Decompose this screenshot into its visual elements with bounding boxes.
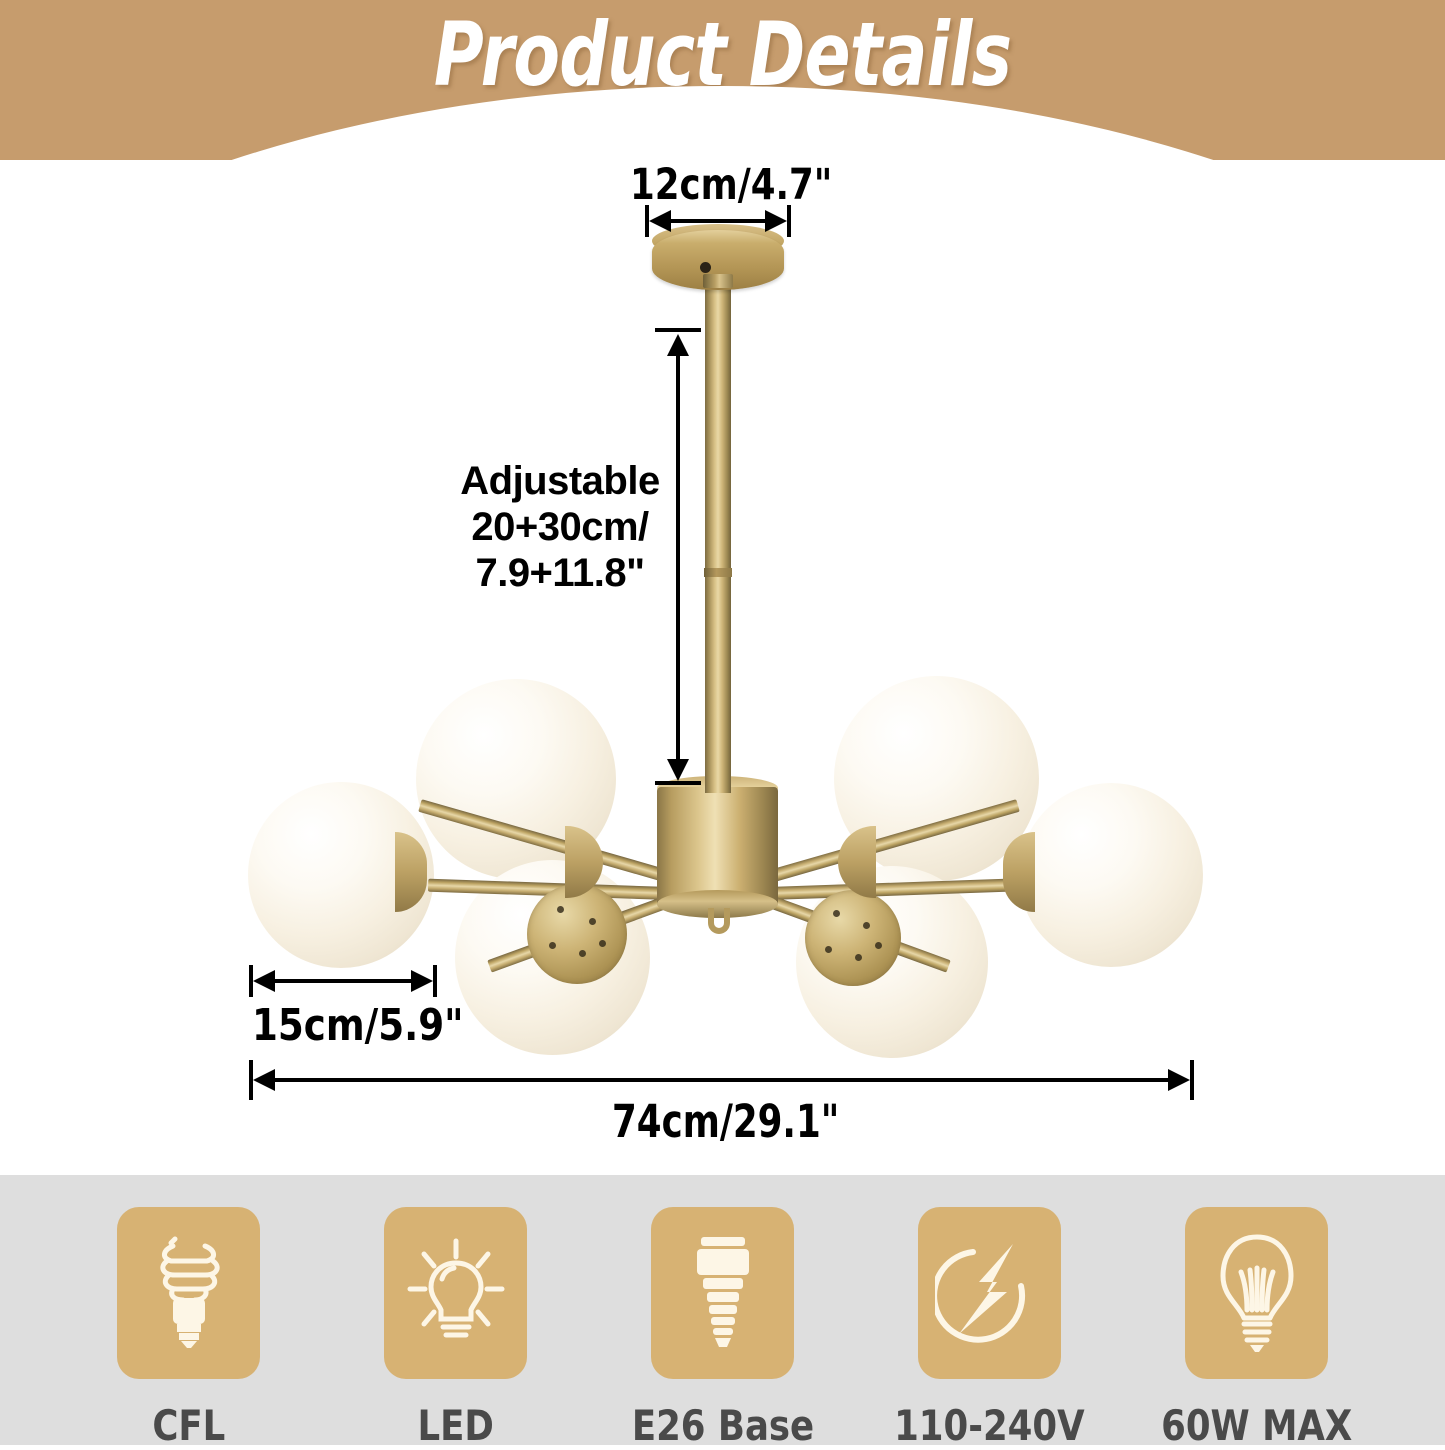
vent-hole	[875, 942, 882, 949]
chandelier-illustration	[0, 160, 1445, 1175]
adjustable-line-2: 20+30cm/	[471, 505, 648, 549]
feature-item-voltage: 110-240V	[882, 1207, 1097, 1450]
feature-item-cfl: CFL	[81, 1207, 296, 1450]
canopy-dim-tick-right	[787, 205, 791, 237]
feature-item-led: LED	[348, 1207, 563, 1450]
feature-tile-led	[384, 1207, 527, 1379]
down-rod-set-screw	[700, 262, 711, 273]
vent-hole	[549, 942, 556, 949]
overall-dim-tick-right	[1190, 1060, 1194, 1100]
socket-cup-lower-right	[805, 890, 901, 986]
feature-label-led: LED	[417, 1401, 493, 1450]
globe-dim-arrowhead-right	[411, 970, 433, 992]
globe-dim-tick-right	[433, 965, 437, 997]
led-bulb-rays-icon	[404, 1237, 508, 1349]
e26-screw-base-icon	[683, 1233, 763, 1353]
adjustable-dim-arrowhead-top	[667, 334, 689, 356]
vent-hole	[599, 940, 606, 947]
feature-tile-wattage	[1185, 1207, 1328, 1379]
vent-hole	[825, 946, 832, 953]
globe-dim-arrowhead-left	[253, 970, 275, 992]
adjustable-dim-arrowhead-bottom	[667, 759, 689, 781]
globe-diameter-label: 15cm/5.9"	[252, 1000, 464, 1051]
adjustable-drop-label: Adjustable 20+30cm/ 7.9+11.8"	[455, 458, 665, 596]
down-rod-joint-lower	[704, 568, 732, 577]
adjustable-dim-tick-bottom	[655, 781, 701, 785]
canopy-dim-line	[655, 219, 779, 223]
vent-hole	[589, 918, 596, 925]
header-banner: Product Details	[0, 0, 1445, 160]
cfl-spiral-bulb-icon	[143, 1234, 235, 1352]
overall-dim-line	[258, 1078, 1184, 1082]
canopy-width-label: 12cm/4.7"	[630, 160, 832, 210]
globe-shade-far-right	[1019, 783, 1203, 967]
feature-tile-e26	[651, 1207, 794, 1379]
feature-label-e26: E26 Base	[631, 1401, 813, 1450]
feature-tile-cfl	[117, 1207, 260, 1379]
adjustable-line-3: 7.9+11.8"	[475, 551, 644, 595]
center-hub	[657, 787, 778, 907]
lightning-bolt-circle-icon	[935, 1238, 1045, 1348]
feature-label-voltage: 110-240V	[894, 1401, 1085, 1450]
feature-list: CFL	[0, 1175, 1445, 1445]
hub-hanging-loop	[708, 908, 730, 934]
feature-strip: CFL	[0, 1175, 1445, 1445]
feature-label-wattage: 60W MAX	[1161, 1401, 1352, 1450]
feature-label-cfl: CFL	[152, 1401, 225, 1450]
adjustable-dim-line	[676, 338, 680, 773]
filament-bulb-icon	[1214, 1232, 1300, 1354]
vent-hole	[579, 950, 586, 957]
vent-hole	[855, 954, 862, 961]
vent-hole	[557, 906, 564, 913]
adjustable-dim-tick-top	[655, 328, 701, 332]
feature-tile-voltage	[918, 1207, 1061, 1379]
feature-item-e26: E26 Base	[615, 1207, 830, 1450]
vent-hole	[833, 910, 840, 917]
overall-width-label: 74cm/29.1"	[612, 1095, 839, 1148]
adjustable-line-1: Adjustable	[460, 459, 659, 503]
overall-dim-arrowhead-right	[1168, 1069, 1190, 1091]
vent-hole	[863, 922, 870, 929]
down-rod	[705, 248, 731, 793]
socket-cup-lower-left	[527, 884, 627, 984]
overall-dim-arrowhead-left	[253, 1069, 275, 1091]
canopy-dim-arrowhead-left	[649, 210, 671, 232]
canopy-dim-arrowhead-right	[765, 210, 787, 232]
feature-item-wattage: 60W MAX	[1149, 1207, 1364, 1450]
down-rod-joint-upper	[703, 274, 733, 288]
product-image-stage: 12cm/4.7" Adjustable 20+30cm/ 7.9+11.8" …	[0, 160, 1445, 1175]
globe-dim-line	[258, 979, 426, 983]
